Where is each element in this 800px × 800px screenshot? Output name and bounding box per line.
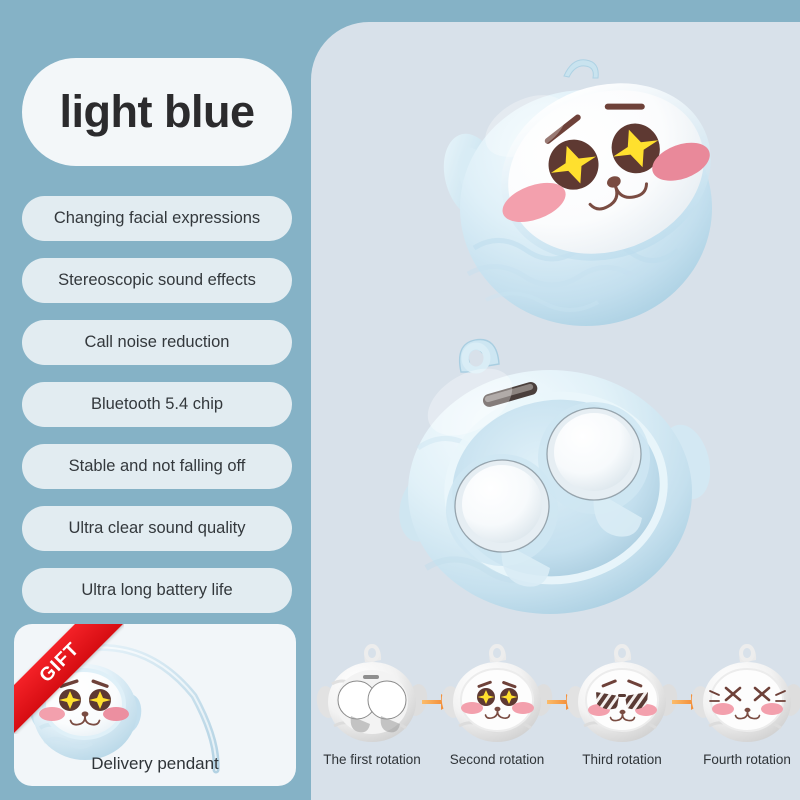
feature-label: Stereoscopic sound effects: [58, 271, 256, 290]
rotation-thumb-sunglasses: [561, 640, 683, 750]
rotation-item-3: Fourth rotation: [686, 640, 800, 800]
feature-label: Ultra long battery life: [81, 581, 232, 600]
feature-label: Stable and not falling off: [69, 457, 246, 476]
rotation-sequence: The first rotation: [311, 640, 800, 800]
rotation-item-1: Second rotation: [436, 640, 558, 800]
rotation-thumb-closed-eyes: [686, 640, 800, 750]
feature-label: Bluetooth 5.4 chip: [91, 395, 223, 414]
page-title: light blue: [60, 86, 255, 138]
feature-label: Call noise reduction: [85, 333, 230, 352]
closed-case-product-photo: [430, 48, 730, 330]
open-case-product-photo: [398, 330, 710, 620]
rotation-thumb-open-case: [311, 640, 433, 750]
feature-item-2: Call noise reduction: [22, 320, 292, 365]
pendant-caption: Delivery pendant: [14, 754, 296, 774]
rotation-label: Fourth rotation: [686, 752, 800, 767]
feature-item-1: Stereoscopic sound effects: [22, 258, 292, 303]
rotation-label: Second rotation: [436, 752, 558, 767]
right-earbud: [554, 413, 634, 491]
feature-item-3: Bluetooth 5.4 chip: [22, 382, 292, 427]
left-earbud: [462, 465, 542, 543]
rotation-item-2: Third rotation: [561, 640, 683, 800]
color-title-pill: light blue: [22, 58, 292, 166]
right-eyebrow: [605, 104, 645, 110]
feature-list: Changing facial expressions Stereoscopic…: [22, 196, 292, 630]
pendant-loop-icon: [67, 654, 77, 666]
info-column: light blue Changing facial expressions S…: [0, 0, 311, 800]
rotation-label: The first rotation: [311, 752, 433, 767]
feature-label: Ultra clear sound quality: [68, 519, 245, 538]
gift-card: Delivery pendant GIFT: [14, 624, 296, 786]
feature-item-4: Stable and not falling off: [22, 444, 292, 489]
feature-item-5: Ultra clear sound quality: [22, 506, 292, 551]
hanging-loop-icon: [564, 60, 598, 78]
product-marketing-image: light blue Changing facial expressions S…: [0, 0, 800, 800]
feature-item-0: Changing facial expressions: [22, 196, 292, 241]
rotation-label: Third rotation: [561, 752, 683, 767]
feature-label: Changing facial expressions: [54, 209, 260, 228]
pendant-face: [46, 672, 122, 736]
rotation-item-0: The first rotation: [311, 640, 433, 800]
closed-case-svg: [430, 48, 730, 330]
feature-item-6: Ultra long battery life: [22, 568, 292, 613]
hanging-ring-icon: [460, 340, 499, 373]
rotation-thumb-sparkle: [436, 640, 558, 750]
open-case-svg: [398, 330, 710, 620]
